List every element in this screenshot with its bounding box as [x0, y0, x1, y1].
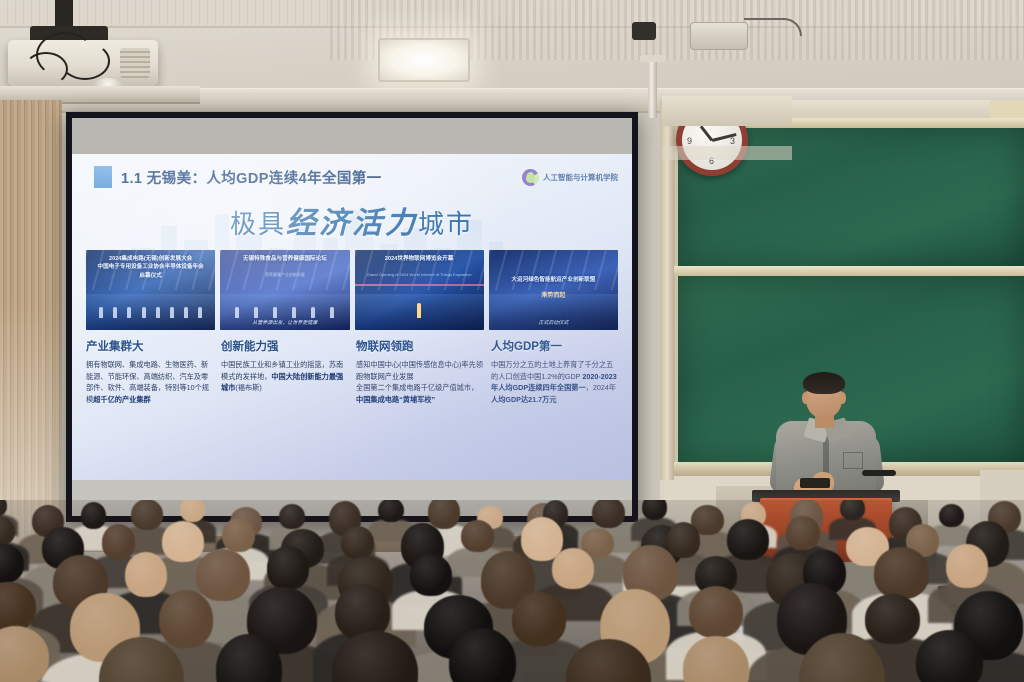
slide-columns: 产业集群大 拥有物联网、集成电路、生物医药、新能源、节能环保、高端纺织、汽车及零…	[86, 338, 618, 468]
audience-head	[159, 590, 213, 648]
slide-column: 产业集群大 拥有物联网、集成电路、生物医药、新能源、节能环保、高端纺织、汽车及零…	[86, 338, 213, 468]
podium-microphone-icon	[862, 470, 896, 476]
slide-photo: 大运河绿色智能航运产业创新联盟 乘势而起 正式启动仪式	[489, 250, 618, 330]
screen-letterbox-top	[72, 118, 632, 154]
speaker-ear	[802, 392, 809, 404]
slide-photo: 无锡特殊食品与营养健康国际论坛 营养健康产业创新发展 从营养源出发，让世界更健康	[220, 250, 349, 330]
audience-head	[125, 552, 167, 597]
photo-caption: 2024集成电路(无锡)创新发展大会中国电子专用设备工业协会半导体设备年会启幕仪…	[89, 255, 212, 280]
photo-footer: 从营养源出发，让世界更健康	[223, 319, 346, 326]
audience-head	[865, 594, 919, 644]
audience-head	[378, 500, 403, 522]
audience-head	[131, 500, 163, 530]
projection-screen: 1.1 无锡美：人均GDP连续4年全国第一 人工智能与计算机学院 极具经济活力城…	[72, 118, 632, 516]
presentation-slide: 1.1 无锡美：人均GDP连续4年全国第一 人工智能与计算机学院 极具经济活力城…	[72, 154, 632, 480]
clock-number-3: 3	[730, 136, 735, 146]
ceiling-speaker-icon	[690, 22, 748, 50]
audience-head	[727, 519, 769, 560]
audience-head	[939, 504, 964, 527]
projector-cable	[24, 52, 68, 86]
audience-head	[946, 544, 988, 588]
photo-caption: 无锡特殊食品与营养健康国际论坛	[223, 255, 346, 263]
speaker-ear	[839, 392, 846, 404]
audience-head	[410, 554, 452, 596]
logo-mark-icon	[522, 169, 539, 186]
column-body: 感知中国中心(中国传感信息中心)率先领跑物联网产业发展全国第二个集成电路千亿级产…	[356, 359, 483, 406]
logo-text: 人工智能与计算机学院	[543, 172, 618, 183]
headline-part-2: 经济活力	[286, 207, 418, 240]
column-header: 创新能力强	[221, 338, 348, 354]
column-body: 中国民族工业和乡镇工业的摇篮，苏南模式的发祥地，中国大陆创新能力最强城市(福布斯…	[221, 359, 348, 394]
ceiling-sensor-icon	[632, 22, 656, 40]
photo-caption: 大运河绿色智能航运产业创新联盟	[492, 276, 615, 284]
slide-headline: 极具经济活力城市	[72, 198, 632, 242]
column-header: 物联网领跑	[356, 338, 483, 354]
audience-head	[222, 518, 255, 552]
slide-column: 人均GDP第一 中国万分之五的土地上养育了千分之五的人口创造中国1.2%的GDP…	[491, 338, 618, 468]
audience-head	[279, 504, 304, 529]
audience-head	[267, 546, 309, 590]
slide-column: 创新能力强 中国民族工业和乡镇工业的摇篮，苏南模式的发祥地，中国大陆创新能力最强…	[221, 338, 348, 468]
school-logo: 人工智能与计算机学院	[522, 169, 618, 186]
audience-head	[196, 549, 250, 601]
audience-head	[874, 547, 928, 599]
headline-part-3: 城市	[418, 210, 474, 239]
projector-vent	[120, 48, 150, 78]
photo-footer: 正式启动仪式	[492, 319, 615, 326]
chalkboard-rail	[672, 266, 1024, 276]
lecture-hall-photo: 12 3 6 9	[0, 0, 1024, 682]
shirt-pocket	[843, 452, 863, 469]
glare-band	[662, 146, 792, 160]
slide-title-bar: 1.1 无锡美：人均GDP连续4年全国第一 人工智能与计算机学院	[94, 164, 618, 190]
slide-photo: 2024集成电路(无锡)创新发展大会中国电子专用设备工业协会半导体设备年会启幕仪…	[86, 250, 215, 330]
title-accent-block	[94, 166, 112, 188]
projector-cable	[60, 42, 110, 80]
audience-area	[0, 500, 1024, 682]
audience-head	[592, 500, 624, 528]
audience-head	[428, 500, 460, 529]
column-body: 拥有物联网、集成电路、生物医药、新能源、节能环保、高端纺织、汽车及零部件、软件、…	[86, 359, 213, 406]
audience-head	[102, 524, 135, 560]
photo-strip: 2024集成电路(无锡)创新发展大会中国电子专用设备工业协会半导体设备年会启幕仪…	[86, 250, 618, 330]
audience-head	[81, 502, 106, 529]
audience-head	[667, 522, 700, 558]
audience-head	[840, 500, 865, 520]
photo-subtitle: Grand Opening of 2024 World Internet of …	[358, 272, 481, 277]
ceiling-wire	[744, 18, 802, 36]
audience-head	[341, 526, 374, 559]
slide-column: 物联网领跑 感知中国中心(中国传感信息中心)率先领跑物联网产业发展全国第二个集成…	[356, 338, 483, 468]
audience-head	[461, 520, 494, 552]
column-header: 产业集群大	[86, 338, 213, 354]
audience-head	[512, 592, 566, 646]
support-pole-base	[640, 55, 666, 62]
slide-photo: 2024世界物联网博览会开幕 Grand Opening of 2024 Wor…	[355, 250, 484, 330]
speaker-hair	[803, 372, 845, 394]
column-header: 人均GDP第一	[491, 338, 618, 354]
beam-occluding-clock	[662, 96, 792, 126]
photo-subtitle: 营养健康产业创新发展	[223, 272, 346, 278]
audience-head	[162, 521, 204, 562]
slide-title: 1.1 无锡美：人均GDP连续4年全国第一	[121, 167, 382, 188]
headline-part-1: 极具	[230, 210, 286, 239]
audience-head	[642, 500, 667, 520]
support-pole	[648, 58, 657, 118]
podium-device	[800, 478, 830, 488]
ceiling-light-panel	[378, 38, 470, 82]
clock-number-9: 9	[687, 136, 692, 146]
audience-head	[689, 586, 743, 638]
audience-head	[786, 516, 819, 550]
column-body: 中国万分之五的土地上养育了千分之五的人口创造中国1.2%的GDP 2020-20…	[491, 359, 618, 406]
photo-caption: 2024世界物联网博览会开幕	[358, 255, 481, 263]
audience-head	[552, 548, 594, 589]
